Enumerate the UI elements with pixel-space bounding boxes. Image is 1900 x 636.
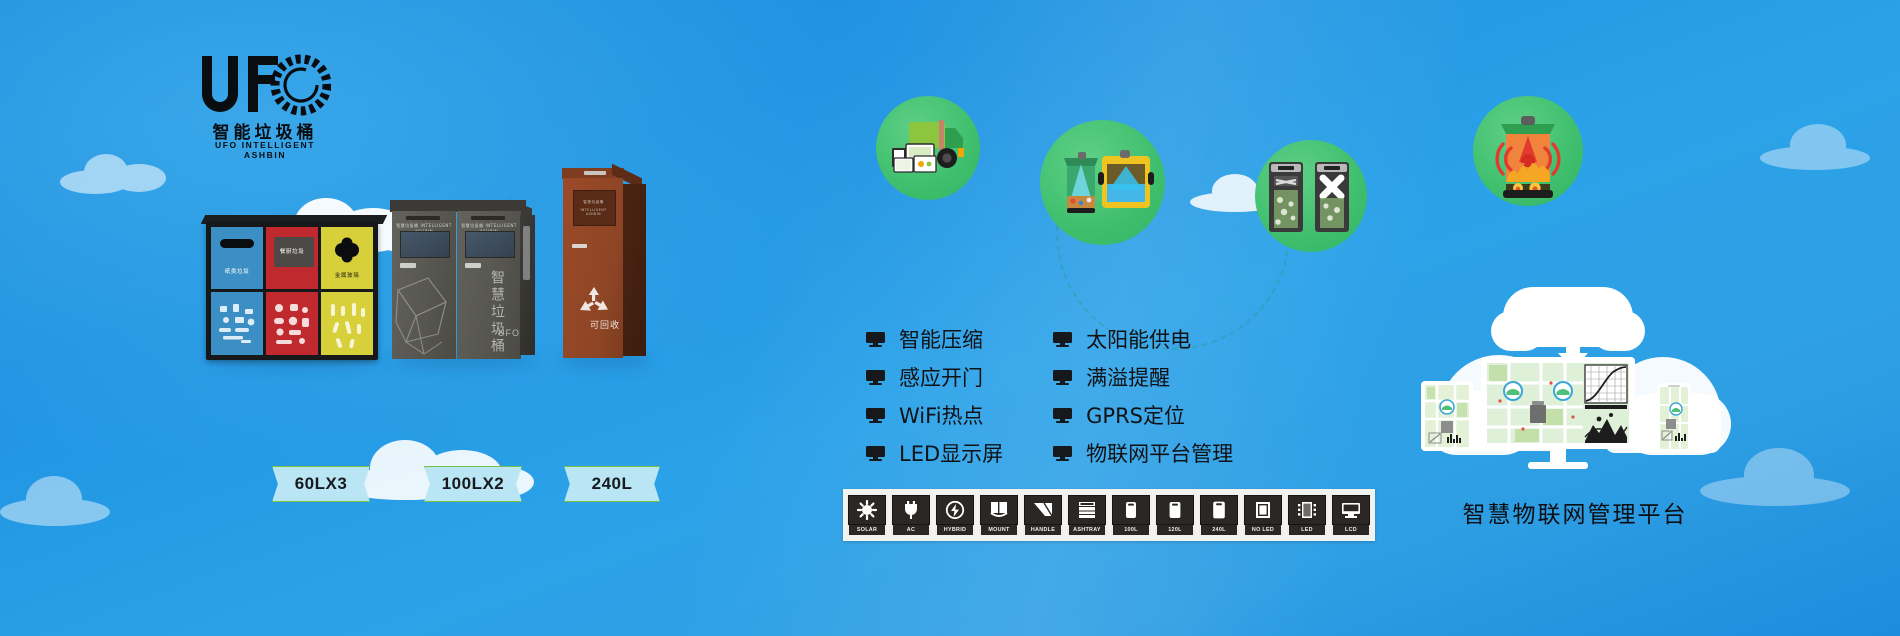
monitor-bullet-icon — [866, 332, 885, 347]
feature-item: 智能压缩 — [866, 324, 1003, 354]
monitor-bullet-icon — [1053, 408, 1072, 423]
bin-recycle-label: 可回收 — [562, 318, 648, 331]
feature-label: LED显示屏 — [899, 438, 1003, 468]
spec-icon-120l[interactable]: 120L — [1155, 495, 1195, 535]
feature-list: 智能压缩 感应开门 WiFi热点 LED显示屏 太阳能供电 满溢提醒 — [866, 324, 1233, 468]
bin-120l-icon — [1156, 495, 1194, 525]
monitor-screen — [1487, 363, 1629, 443]
spec-icon-mount[interactable]: MOUNT — [979, 495, 1019, 535]
product-bin-240l[interactable]: 智慧垃圾桶 INTELLIGENT ASHBIN 可回收 — [562, 168, 648, 360]
bin-display-window[interactable] — [465, 231, 515, 258]
garbage-truck-icon — [876, 96, 980, 200]
spec-caption: 100L — [1113, 525, 1149, 535]
tablet-map-screen — [1425, 385, 1469, 447]
no-led-icon — [1244, 495, 1282, 525]
product-bin-100lx2[interactable]: 智慧垃圾桶 INTELLIGENT ASHBIN 智慧垃圾桶 INTELLIGE… — [390, 200, 538, 360]
spec-icon-240l[interactable]: 240L — [1199, 495, 1239, 535]
spec-icon-no-led[interactable]: NO LED — [1243, 495, 1283, 535]
monitor-stand-base — [1528, 462, 1588, 469]
bin-100l-icon — [1112, 495, 1150, 525]
fleet-dispatch-circle[interactable] — [876, 96, 980, 200]
polygon-pattern-graphic — [394, 272, 454, 356]
capacity-label: 60LX3 — [295, 474, 348, 494]
bin-body-text: 智慧垃圾桶 — [487, 270, 507, 355]
spec-icon-hybrid[interactable]: HYBRID — [935, 495, 975, 535]
feature-label: GPRS定位 — [1086, 400, 1185, 430]
monitor-bullet-icon — [1053, 332, 1072, 347]
feature-label: 物联网平台管理 — [1086, 438, 1233, 468]
spec-icon-lcd[interactable]: LCD — [1331, 495, 1371, 535]
bin-handle[interactable] — [572, 244, 587, 248]
bin-display-window[interactable] — [400, 231, 450, 258]
product-bin-60lx3[interactable]: 纸类垃圾 餐厨垃圾 — [206, 222, 378, 360]
feature-label: 太阳能供电 — [1086, 324, 1191, 354]
spec-caption: 120L — [1157, 525, 1193, 535]
logo-english-name: UFO INTELLIGENT ASHBIN — [196, 140, 334, 160]
feature-item: 物联网平台管理 — [1053, 438, 1233, 468]
poster-canvas: 智能垃圾桶 UFO INTELLIGENT ASHBIN 纸类垃圾 — [0, 0, 1900, 636]
ashtray-icon — [1068, 495, 1106, 525]
phone-map-screen — [1660, 387, 1688, 449]
feature-item: WiFi热点 — [866, 400, 1003, 430]
spec-caption: NO LED — [1245, 525, 1281, 535]
spec-caption: AC — [893, 525, 929, 535]
monitor-bullet-icon — [866, 408, 885, 423]
monitor-stand-neck — [1550, 449, 1566, 463]
brand-logo: 智能垃圾桶 UFO INTELLIGENT ASHBIN — [196, 52, 331, 152]
bin-fill-sensor-icon — [1040, 120, 1165, 245]
spec-icon-strip: SOLAR AC HYBRID MOUNT — [843, 489, 1375, 541]
led-panel-icon — [1288, 495, 1326, 525]
spec-icon-handle[interactable]: HANDLE — [1023, 495, 1063, 535]
compartment-label: 纸类垃圾 — [211, 267, 263, 275]
feature-label: 满溢提醒 — [1086, 362, 1170, 392]
twin-compactor-bin-icon — [1255, 140, 1367, 252]
feature-item: 太阳能供电 — [1053, 324, 1233, 354]
wall-mount-icon — [980, 495, 1018, 525]
spec-icon-100l[interactable]: 100L — [1111, 495, 1151, 535]
fill-level-circle[interactable] — [1040, 120, 1165, 245]
bin-compartment-metal-glass: 金属玻璃 — [321, 227, 373, 355]
spec-icon-ac[interactable]: AC — [891, 495, 931, 535]
iot-platform-illustration: 云平台 — [1425, 295, 1725, 480]
capacity-banner-100lx2: 100LX2 — [424, 466, 522, 502]
recycle-icon — [578, 286, 610, 316]
sun-icon — [848, 495, 886, 525]
bin-panel-line2: INTELLIGENT ASHBIN — [573, 208, 614, 216]
feature-label: 感应开门 — [899, 362, 983, 392]
desktop-monitor-device[interactable] — [1481, 357, 1635, 449]
feature-item: 满溢提醒 — [1053, 362, 1233, 392]
feature-column-right: 太阳能供电 满溢提醒 GPRS定位 物联网平台管理 — [1053, 324, 1233, 468]
spec-caption: HYBRID — [937, 525, 973, 535]
phone-speaker — [1668, 385, 1680, 387]
kitchen-waste-graphic — [266, 292, 318, 355]
capacity-label: 240L — [592, 474, 633, 494]
feature-column-left: 智能压缩 感应开门 WiFi热点 LED显示屏 — [866, 324, 1003, 468]
bin-side-light — [523, 226, 530, 280]
compaction-circle[interactable] — [1255, 140, 1367, 252]
paper-waste-graphic — [211, 292, 263, 355]
monitor-bullet-icon — [1053, 370, 1072, 385]
compartment-label: 餐厨垃圾 — [266, 247, 318, 255]
metal-glass-slot-icon — [321, 235, 373, 265]
spec-caption: LCD — [1333, 525, 1369, 535]
dashboard-map-and-chart — [1487, 363, 1629, 443]
spec-caption: LED — [1289, 525, 1325, 535]
handle-icon — [1024, 495, 1062, 525]
platform-caption: 智慧物联网管理平台 — [1420, 495, 1730, 529]
feature-item: GPRS定位 — [1053, 400, 1233, 430]
spec-icon-solar[interactable]: SOLAR — [847, 495, 887, 535]
power-plug-icon — [892, 495, 930, 525]
capacity-banner-60lx3: 60LX3 — [272, 466, 370, 502]
feature-label: 智能压缩 — [899, 324, 983, 354]
spec-caption: HANDLE — [1025, 525, 1061, 535]
bin-panel-line1: 智慧垃圾桶 — [573, 200, 614, 205]
monitor-bullet-icon — [1053, 446, 1072, 461]
monitor-bullet-icon — [866, 370, 885, 385]
spec-icon-ashtray[interactable]: ASHTRAY — [1067, 495, 1107, 535]
fire-alarm-circle[interactable] — [1473, 96, 1583, 206]
cloud-puff — [1531, 297, 1607, 345]
capacity-label: 100LX2 — [442, 474, 505, 494]
bin-handle[interactable] — [465, 263, 481, 268]
tablet-device[interactable] — [1421, 381, 1473, 451]
bin-compartment-paper: 纸类垃圾 — [211, 227, 263, 355]
monitor-bullet-icon — [866, 446, 885, 461]
smartphone-device[interactable] — [1657, 383, 1691, 453]
bin-brand-mark: UFO — [498, 328, 520, 338]
feature-item: LED显示屏 — [866, 438, 1003, 468]
bin-240l-icon — [1200, 495, 1238, 525]
bin-compartment-kitchen: 餐厨垃圾 — [266, 227, 318, 355]
spec-icon-led[interactable]: LED — [1287, 495, 1327, 535]
spec-caption: ASHTRAY — [1069, 525, 1105, 535]
metal-glass-waste-graphic — [321, 292, 373, 355]
bin-fire-alarm-icon — [1473, 96, 1583, 206]
lcd-screen-icon — [1332, 495, 1370, 525]
spec-caption: SOLAR — [849, 525, 885, 535]
feature-item: 感应开门 — [866, 362, 1003, 392]
hybrid-power-icon — [936, 495, 974, 525]
spec-caption: 240L — [1201, 525, 1237, 535]
bin-handle[interactable] — [400, 263, 416, 268]
spec-caption: MOUNT — [981, 525, 1017, 535]
feature-label: WiFi热点 — [899, 400, 984, 430]
ufo-wordmark-icon — [196, 52, 331, 116]
compartment-label: 金属玻璃 — [321, 271, 373, 279]
capacity-banner-240l: 240L — [564, 466, 660, 502]
